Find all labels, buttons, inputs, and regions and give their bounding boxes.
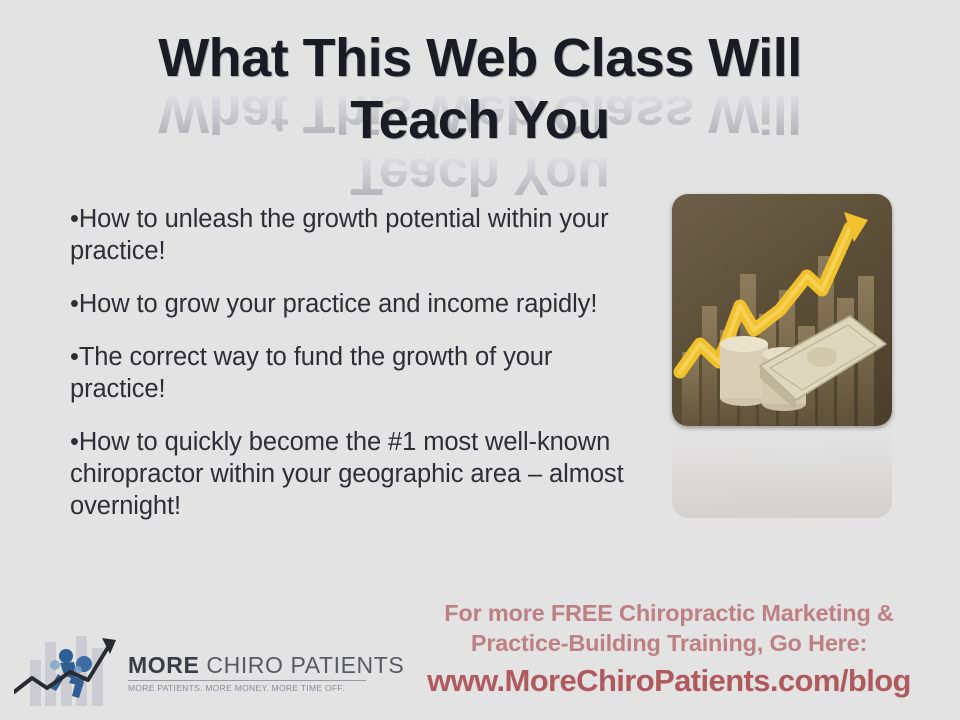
money-growth-chart-panel <box>672 194 892 426</box>
title-line-1: What This Web Class Will <box>0 28 960 88</box>
money-graphic-reflection <box>672 428 892 518</box>
footer-call-to-action: For more FREE Chiropractic Marketing & P… <box>378 598 960 700</box>
bullet-item: •How to grow your practice and income ra… <box>70 288 630 320</box>
bullet-item: •How to quickly become the #1 most well-… <box>70 426 630 522</box>
footer-website-url[interactable]: www.MoreChiroPatients.com/blog <box>378 662 960 700</box>
footer-line-2: Practice-Building Training, Go Here: <box>378 628 960 658</box>
banknote-and-coins-icon <box>672 194 892 426</box>
bullet-item: •The correct way to fund the growth of y… <box>70 341 630 405</box>
title-line-1-wrap: What This Web Class Will What This Web C… <box>0 28 960 94</box>
logo-tagline: MORE PATIENTS. MORE MONEY. MORE TIME OFF… <box>128 683 368 694</box>
logo-name-rest: CHIRO PATIENTS <box>199 652 404 678</box>
title-line-2-wrap: Teach You Teach You <box>0 90 960 156</box>
logo-wordmark: MORE CHIRO PATIENTS MORE PATIENTS. MORE … <box>128 652 368 694</box>
logo-name-strong: MORE <box>128 652 199 678</box>
footer-line-1: For more FREE Chiropractic Marketing & <box>378 598 960 628</box>
money-growth-chart-image <box>672 194 892 426</box>
bullet-list: •How to unleash the growth potential wit… <box>70 203 630 522</box>
logo-name: MORE CHIRO PATIENTS <box>128 652 368 678</box>
presentation-slide: What This Web Class Will What This Web C… <box>0 0 960 720</box>
page-title: What This Web Class Will What This Web C… <box>0 28 960 156</box>
logo-growth-runner-icon <box>14 618 126 714</box>
brand-logo[interactable]: MORE CHIRO PATIENTS MORE PATIENTS. MORE … <box>14 618 369 714</box>
logo-divider <box>128 680 366 681</box>
title-line-2: Teach You <box>0 90 960 150</box>
bullet-item: •How to unleash the growth potential wit… <box>70 203 630 267</box>
